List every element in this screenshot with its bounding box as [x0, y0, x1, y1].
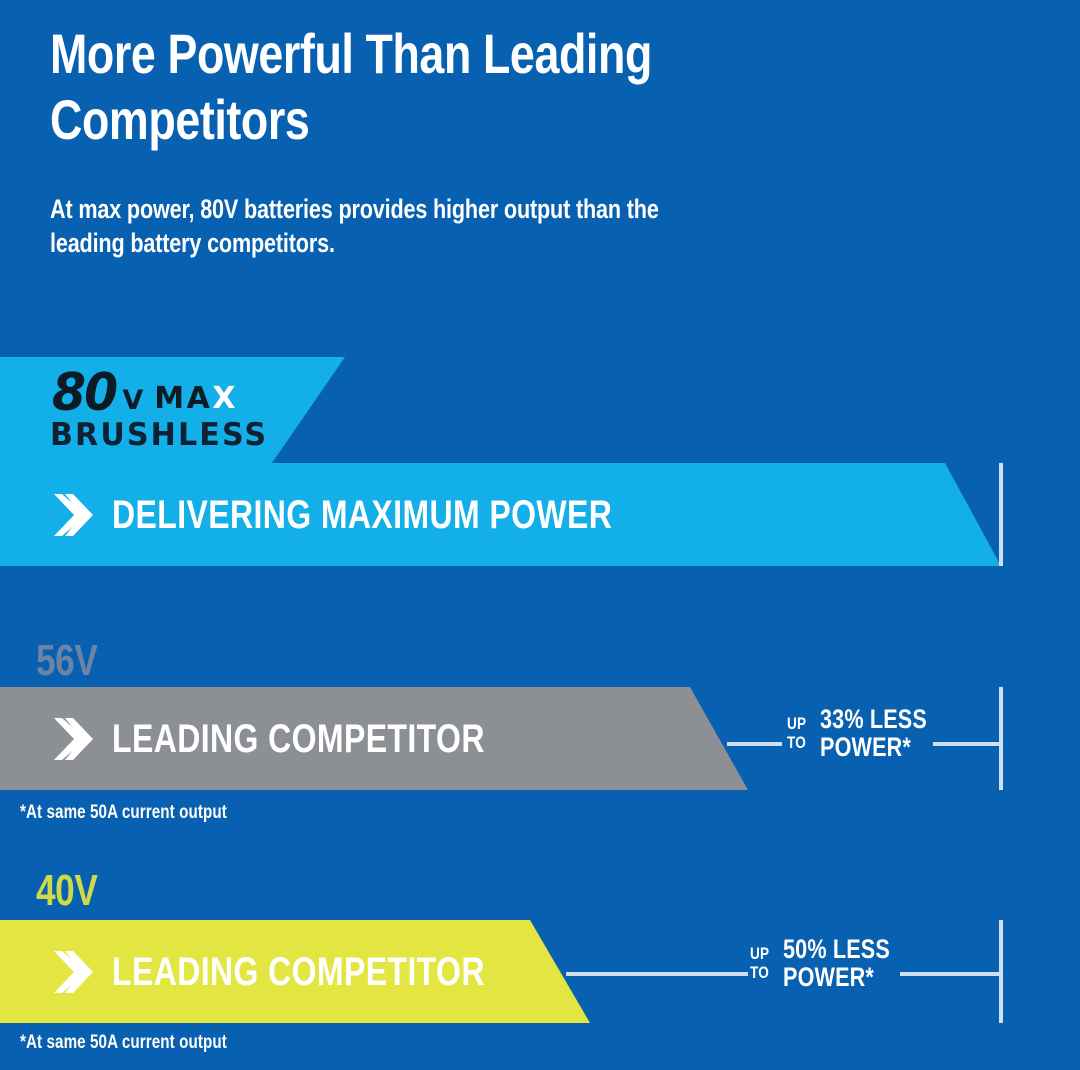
- footnote-56v: *At same 50A current output: [20, 803, 227, 823]
- annotation-40v: UP TO 50% LESS POWER*: [750, 935, 917, 991]
- badge-brushless-wordmark: BRUSHLESS: [50, 419, 268, 451]
- bar-80v-label: DELIVERING MAXIMUM POWER: [112, 494, 612, 536]
- reference-tick-56v: [999, 687, 1003, 790]
- title-line-1: More Powerful Than Leading: [50, 26, 652, 82]
- connector-line-40v-right: [900, 972, 1001, 976]
- annotation-40v-line-1: 50% LESS: [783, 935, 890, 963]
- chevron-right-icon: [52, 949, 94, 995]
- bar-40v-competitor: LEADING COMPETITOR: [0, 920, 600, 1023]
- bar-80v-max: DELIVERING MAXIMUM POWER: [0, 463, 1005, 566]
- badge-max-wordmark: MAX: [154, 384, 238, 414]
- reference-tick-40v: [999, 920, 1003, 1023]
- annotation-40v-upto: UP TO: [750, 944, 774, 982]
- connector-line-56v-left: [727, 742, 782, 746]
- page-title: More Powerful Than Leading Competitors: [50, 26, 950, 148]
- bar-40v-label: LEADING COMPETITOR: [112, 951, 485, 993]
- annotation-40v-to: TO: [750, 963, 769, 982]
- badge-voltage-number: 80: [52, 369, 116, 417]
- voltage-label-56v: 56V: [36, 639, 97, 683]
- annotation-40v-up: UP: [750, 944, 769, 963]
- reference-tick-80v: [999, 463, 1003, 566]
- annotation-40v-line-2: POWER*: [783, 963, 874, 991]
- annotation-56v-line-1: 33% LESS: [820, 705, 927, 733]
- annotation-56v-to: TO: [787, 733, 806, 752]
- brand-badge-80v-max-brushless: 80 V MAX BRUSHLESS: [0, 357, 360, 463]
- annotation-40v-value: 50% LESS POWER*: [783, 935, 917, 991]
- bar-56v-competitor: LEADING COMPETITOR: [0, 687, 760, 790]
- footnote-40v: *At same 50A current output: [20, 1033, 227, 1053]
- subtitle-line-1: At max power, 80V batteries provides hig…: [50, 194, 659, 224]
- badge-max-x-glyph: X: [212, 381, 238, 416]
- chevron-right-icon: [52, 492, 94, 538]
- badge-voltage-unit: V: [122, 387, 143, 414]
- title-line-2: Competitors: [50, 92, 309, 148]
- badge-max-prefix: MA: [154, 381, 212, 416]
- header: More Powerful Than Leading Competitors A…: [50, 26, 950, 258]
- annotation-56v-upto: UP TO: [787, 714, 811, 752]
- annotation-56v-line-2: POWER*: [820, 733, 911, 761]
- page-subtitle: At max power, 80V batteries provides hig…: [50, 194, 950, 258]
- annotation-56v-up: UP: [787, 714, 806, 733]
- voltage-label-40v: 40V: [36, 869, 97, 913]
- annotation-56v: UP TO 33% LESS POWER*: [787, 705, 954, 761]
- bar-56v-label: LEADING COMPETITOR: [112, 718, 485, 760]
- connector-line-40v-left: [566, 972, 748, 976]
- subtitle-line-2: leading battery competitors.: [50, 228, 335, 258]
- chevron-right-icon: [52, 716, 94, 762]
- connector-line-56v-right: [933, 742, 1001, 746]
- annotation-56v-value: 33% LESS POWER*: [820, 705, 954, 761]
